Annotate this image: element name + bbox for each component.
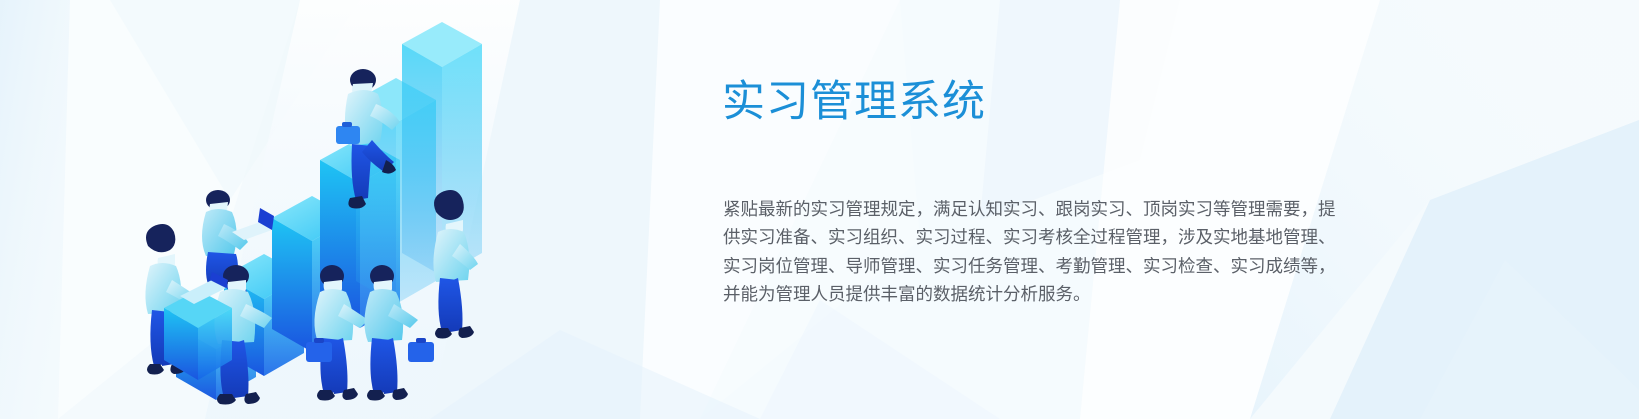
hero-banner: 实习管理系统 紧贴最新的实习管理规定，满足认知实习、跟岗实习、顶岗实习等管理需要…	[0, 0, 1639, 419]
page-title: 实习管理系统	[722, 78, 986, 127]
isometric-growth-illustration	[120, 8, 520, 408]
hero-copy: 实习管理系统 紧贴最新的实习管理规定，满足认知实习、跟岗实习、顶岗实习等管理需要…	[722, 0, 1422, 419]
description-line: 实习岗位管理、导师管理、实习任务管理、考勤管理、实习检查、实习成绩等，	[723, 253, 1399, 281]
page-description: 紧贴最新的实习管理规定，满足认知实习、跟岗实习、顶岗实习等管理需要，提 供实习准…	[723, 196, 1399, 310]
description-line: 供实习准备、实习组织、实习过程、实习考核全过程管理，涉及实地基地管理、	[723, 224, 1399, 252]
description-line: 并能为管理人员提供丰富的数据统计分析服务。	[723, 281, 1399, 309]
description-line: 紧贴最新的实习管理规定，满足认知实习、跟岗实习、顶岗实习等管理需要，提	[723, 196, 1399, 224]
